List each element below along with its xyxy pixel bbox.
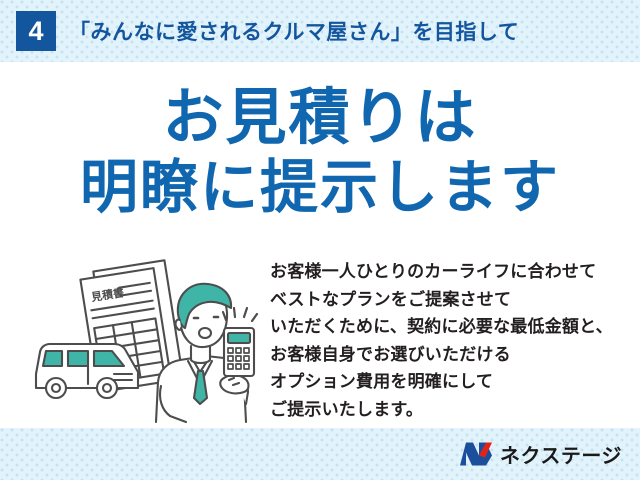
van-illustration xyxy=(36,344,138,398)
body-copy-line-1: お客様一人ひとりのカーライフに合わせて xyxy=(270,258,634,286)
body-copy-line-2: ベストなプランをご提案させて xyxy=(270,286,634,314)
header-content: 4 「みんなに愛されるクルマ屋さん」を目指して xyxy=(0,0,640,62)
body-copy-line-6: ご提示いたします。 xyxy=(270,396,634,424)
main-content: お見積りは 明瞭に提示します お客様一人ひとりのカーライフに合わせて ベストなプ… xyxy=(0,62,640,428)
brand-logo: ネクステージ xyxy=(459,440,622,469)
estimate-illustration-svg: 見積書 xyxy=(28,254,268,424)
body-copy: お客様一人ひとりのカーライフに合わせて ベストなプランをご提案させて いただくた… xyxy=(270,258,634,423)
nextage-n-mark-icon xyxy=(459,442,493,467)
headline-line-1: お見積りは xyxy=(0,82,640,154)
calculator-illustration xyxy=(223,308,257,376)
headline: お見積りは 明瞭に提示します xyxy=(0,82,640,222)
promotional-banner: 4 「みんなに愛されるクルマ屋さん」を目指して お見積りは 明瞭に提示します お… xyxy=(0,0,640,480)
footer-band: ネクステージ xyxy=(0,428,640,480)
body-copy-line-5: オプション費用を明確にして xyxy=(270,368,634,396)
estimate-illustration: 見積書 xyxy=(28,254,268,424)
header-band: 4 「みんなに愛されるクルマ屋さん」を目指して xyxy=(0,0,640,62)
brand-name: ネクステージ xyxy=(500,440,622,469)
step-number-badge: 4 xyxy=(16,11,56,51)
header-title: 「みんなに愛されるクルマ屋さん」を目指して xyxy=(69,16,519,46)
body-copy-line-3: いただくために、契約に必要な最低金額と、 xyxy=(270,313,634,341)
headline-line-2: 明瞭に提示します xyxy=(0,154,640,222)
body-copy-line-4: お客様自身でお選びいただける xyxy=(270,341,634,369)
